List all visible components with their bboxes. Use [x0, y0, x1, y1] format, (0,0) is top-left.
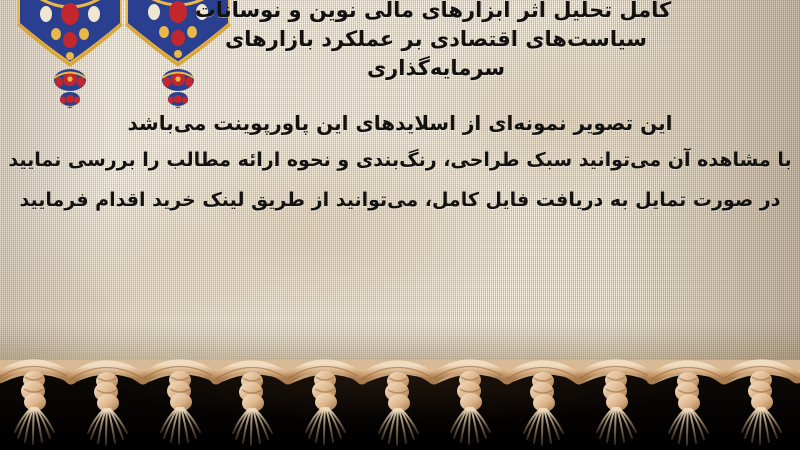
- body-line-3: در صورت تمایل به دریافت فایل کامل، می‌تو…: [0, 180, 800, 220]
- bottom-black-band: [0, 372, 800, 450]
- body-line-2: با مشاهده آن می‌توانید سبک طراحی، رنگ‌بن…: [0, 140, 800, 180]
- title-line-2: سیاست‌های اقتصادی بر عملکرد بازارهای: [86, 25, 786, 54]
- slide-body: این تصویر نمونه‌ای از اسلایدهای این پاور…: [0, 106, 800, 220]
- slide-title: کامل تحلیل اثر ابزارهای مالی نوین و نوسا…: [86, 0, 786, 83]
- body-line-1: این تصویر نمونه‌ای از اسلایدهای این پاور…: [0, 106, 800, 140]
- title-line-1: کامل تحلیل اثر ابزارهای مالی نوین و نوسا…: [86, 0, 786, 25]
- title-line-3: سرمایه‌گذاری: [86, 54, 786, 83]
- slide-canvas: کامل تحلیل اثر ابزارهای مالی نوین و نوسا…: [0, 0, 800, 450]
